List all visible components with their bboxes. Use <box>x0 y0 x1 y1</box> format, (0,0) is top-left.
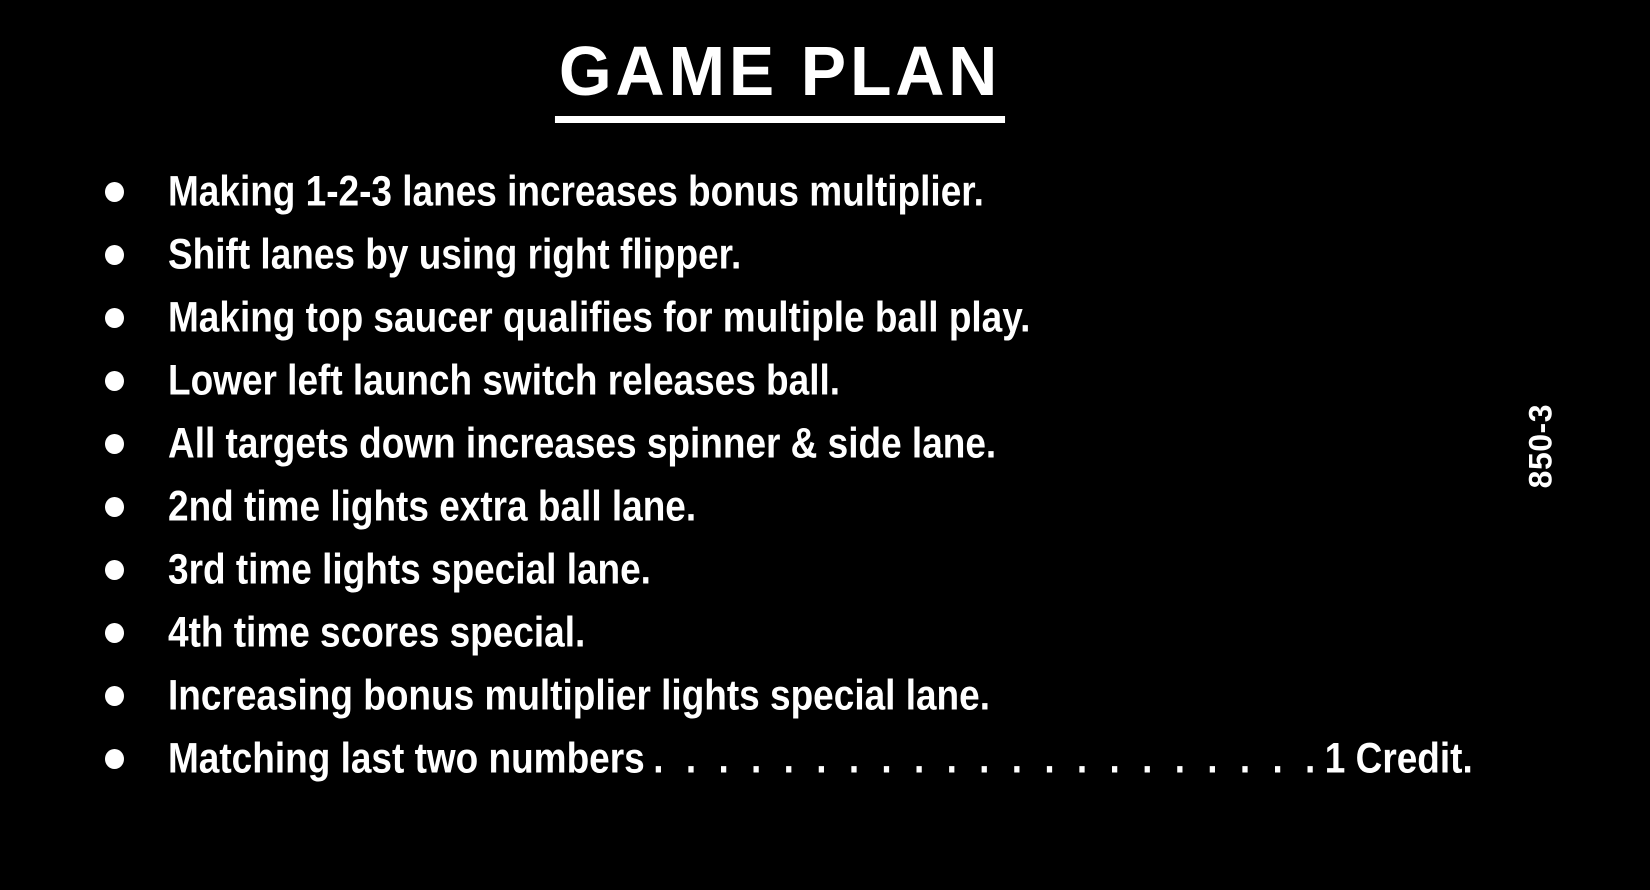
bullet-dot-icon <box>105 560 124 580</box>
rule-text: Shift lanes by using right flipper. <box>168 232 741 277</box>
rule-text: Making top saucer qualifies for multiple… <box>168 295 1030 340</box>
leader-dots: . . . . . . . . . . . . . . . . . . . . … <box>645 734 1325 782</box>
list-item: 4th time scores special. <box>96 601 1436 664</box>
list-item: 2nd time lights extra ball lane. <box>96 475 1436 538</box>
list-item: Making 1-2-3 lanes increases bonus multi… <box>96 160 1436 223</box>
rule-text: 3rd time lights special lane. <box>168 547 651 592</box>
match-award-label: Matching last two numbers <box>168 734 645 782</box>
list-item: All targets down increases spinner & sid… <box>96 412 1436 475</box>
bullet-dot-icon <box>105 434 124 454</box>
list-item-match-award: Matching last two numbers. . . . . . . .… <box>96 727 1436 790</box>
page-title-text: GAME PLAN <box>555 36 1005 123</box>
list-item: Increasing bonus multiplier lights speci… <box>96 664 1436 727</box>
list-item: Making top saucer qualifies for multiple… <box>96 286 1436 349</box>
rule-text: Increasing bonus multiplier lights speci… <box>168 673 990 718</box>
bullet-dot-icon <box>105 371 124 391</box>
bullet-dot-icon <box>105 308 124 328</box>
rule-text: All targets down increases spinner & sid… <box>168 421 996 466</box>
rule-text: Making 1-2-3 lanes increases bonus multi… <box>168 169 984 214</box>
side-code-label: 850-3 <box>1522 404 1559 488</box>
list-item: 3rd time lights special lane. <box>96 538 1436 601</box>
rule-text: 4th time scores special. <box>168 610 585 655</box>
rules-list: Making 1-2-3 lanes increases bonus multi… <box>96 160 1436 790</box>
bullet-dot-icon <box>105 686 124 706</box>
list-item: Lower left launch switch releases ball. <box>96 349 1436 412</box>
game-plan-card: GAME PLAN Making 1-2-3 lanes increases b… <box>0 0 1650 890</box>
match-award-line: Matching last two numbers. . . . . . . .… <box>168 736 1473 781</box>
bullet-dot-icon <box>105 182 124 202</box>
rule-text: 2nd time lights extra ball lane. <box>168 484 696 529</box>
rule-text: Lower left launch switch releases ball. <box>168 358 840 403</box>
bullet-dot-icon <box>105 497 124 517</box>
list-item: Shift lanes by using right flipper. <box>96 223 1436 286</box>
bullet-dot-icon <box>105 245 124 265</box>
page-title: GAME PLAN <box>0 36 1560 123</box>
match-award-value: 1 Credit. <box>1325 734 1473 782</box>
bullet-dot-icon <box>105 749 124 769</box>
bullet-dot-icon <box>105 623 124 643</box>
